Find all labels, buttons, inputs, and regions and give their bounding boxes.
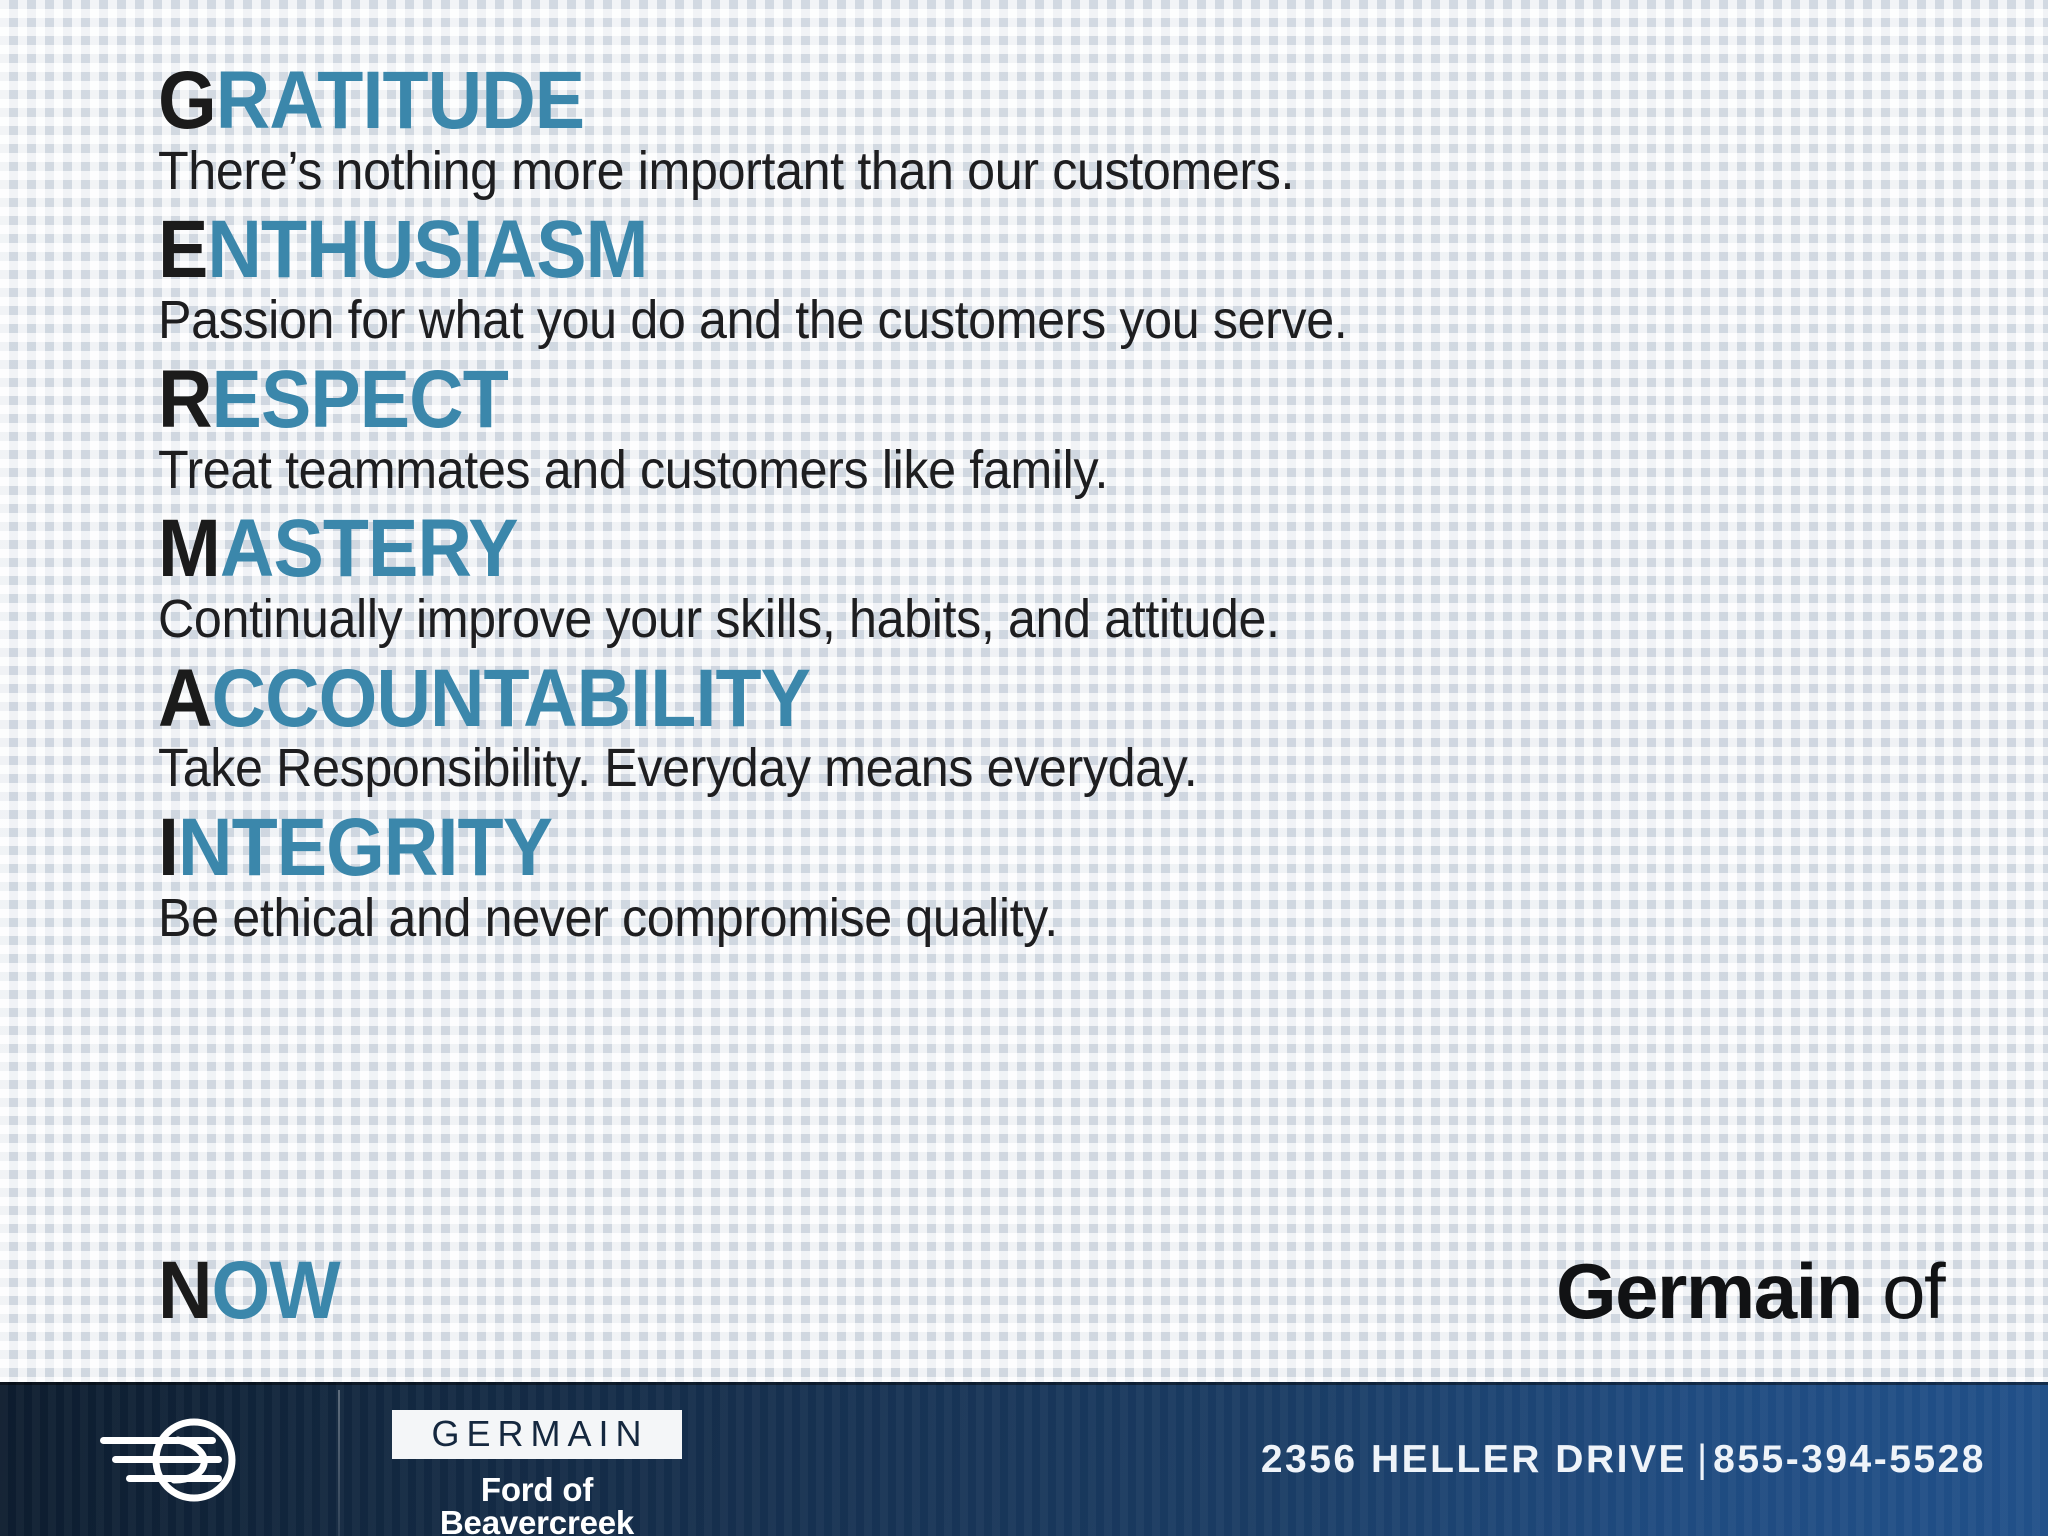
value-heading-gratitude: GRATITUDE [158,62,1740,141]
now-lead-letter: N [158,1245,212,1336]
value-lead-letter: M [158,503,220,594]
value-lead-letter: G [158,55,216,146]
germain-wordmark-block: GERMAIN Ford of Beavercreek [392,1410,692,1536]
core-values-list: GRATITUDE There’s nothing more important… [158,62,1878,946]
germain-wordmark: GERMAIN [392,1410,682,1459]
value-heading-rest: ASTERY [220,503,518,594]
value-description-mastery: Continually improve your skills, habits,… [158,591,1758,648]
value-heading-enthusiasm: ENTHUSIASM [158,211,1740,290]
footer-bar: GERMAIN Ford of Beavercreek 2356 HELLER … [0,1382,2048,1536]
poster-content: GRATITUDE There’s nothing more important… [0,0,2048,1536]
value-heading-integrity: INTEGRITY [158,809,1740,888]
value-item-accountability: ACCOUNTABILITY Take Responsibility. Ever… [158,660,1878,797]
value-heading-mastery: MASTERY [158,510,1740,589]
value-item-gratitude: GRATITUDE There’s nothing more important… [158,62,1878,199]
value-heading-accountability: ACCOUNTABILITY [158,660,1740,739]
now-word: NOW [158,1252,340,1331]
store-name: Ford of Beavercreek [392,1473,682,1536]
germain-winged-circle-logo-icon [78,1412,248,1508]
value-description-enthusiasm: Passion for what you do and the customer… [158,292,1758,349]
footer-address: 2356 HELLER DRIVE [1261,1438,1687,1481]
value-item-respect: RESPECT Treat teammates and customers li… [158,361,1878,498]
value-item-integrity: INTEGRITY Be ethical and never compromis… [158,809,1878,946]
value-heading-rest: NTHUSIASM [207,204,647,295]
value-lead-letter: E [158,204,207,295]
closing-line: NOW Germain of [158,1252,2048,1362]
value-item-enthusiasm: ENTHUSIASM Passion for what you do and t… [158,211,1878,348]
value-description-accountability: Take Responsibility. Everyday means ever… [158,740,1758,797]
value-lead-letter: I [158,802,178,893]
footer-separator: | [1687,1438,1713,1481]
value-description-gratitude: There’s nothing more important than our … [158,143,1758,200]
value-heading-rest: CCOUNTABILITY [212,653,810,744]
footer-divider [338,1390,340,1536]
germain-of-lockup: Germain of [1556,1252,1944,1330]
brand-suffix [1862,1247,1882,1335]
value-lead-letter: R [158,354,212,445]
value-description-integrity: Be ethical and never compromise quality. [158,890,1758,947]
value-description-respect: Treat teammates and customers like famil… [158,442,1758,499]
poster-canvas: GRATITUDE There’s nothing more important… [0,0,2048,1536]
value-lead-letter: A [158,653,212,744]
brand-of-word: of [1882,1247,1944,1335]
value-item-mastery: MASTERY Continually improve your skills,… [158,510,1878,647]
brand-name: Germain [1556,1247,1862,1335]
value-heading-respect: RESPECT [158,361,1740,440]
value-heading-rest: NTEGRITY [178,802,552,893]
footer-top-edge [0,1382,2048,1385]
footer-phone[interactable]: 855-394-5528 [1713,1438,1986,1481]
now-word-rest: OW [212,1245,340,1336]
value-heading-rest: ESPECT [212,354,508,445]
footer-contact-info: 2356 HELLER DRIVE|855-394-5528 [1261,1438,1986,1482]
value-heading-rest: RATITUDE [216,55,584,146]
